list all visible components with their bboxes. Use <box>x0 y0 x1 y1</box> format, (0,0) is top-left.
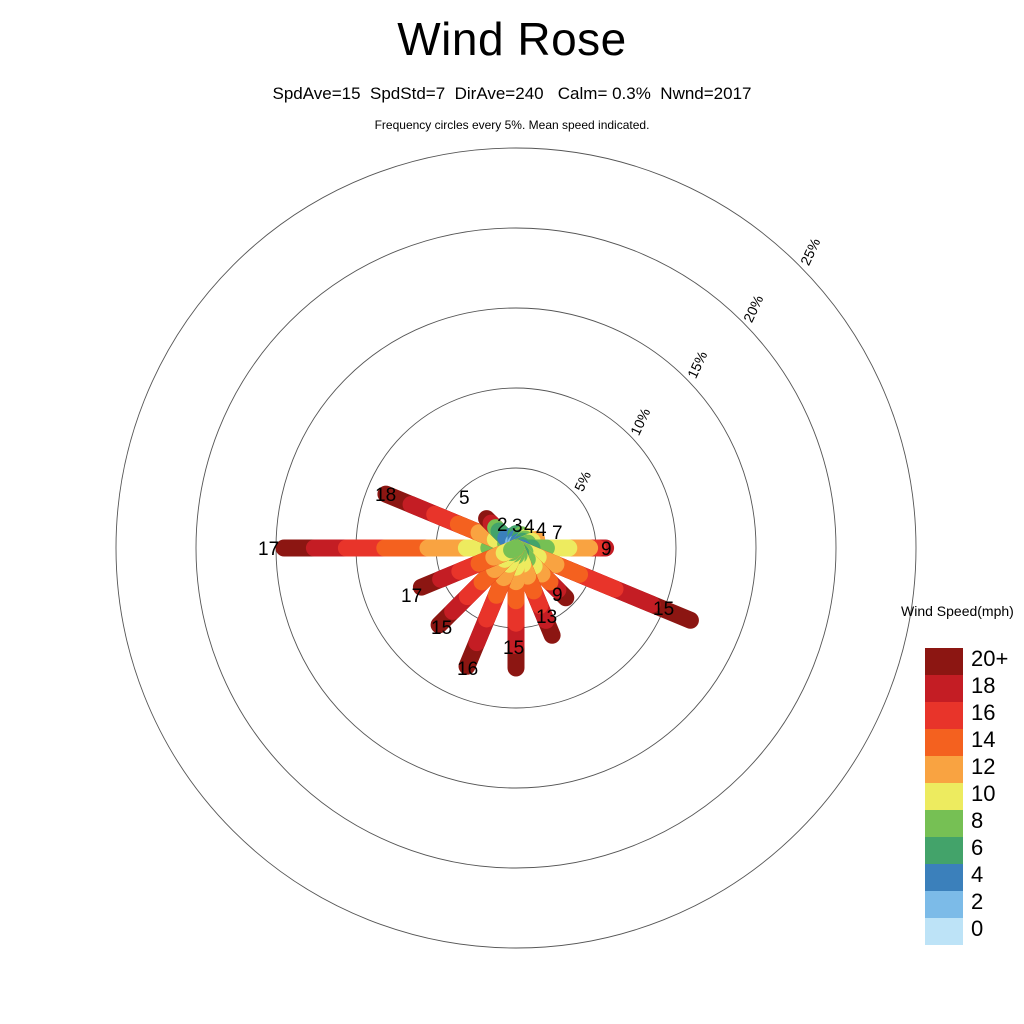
petal-mean-speed-SSE: 13 <box>536 607 557 629</box>
legend-row: 6 <box>925 837 963 864</box>
petal-mean-speed-WSW: 17 <box>401 586 422 608</box>
legend-label: 4 <box>971 862 983 888</box>
legend-label: 0 <box>971 916 983 942</box>
petal-mean-speed-SE: 9 <box>552 585 563 607</box>
wind-rose-page: Wind Rose SpdAve=15 SpdStd=7 DirAve=240 … <box>0 0 1024 1024</box>
petal-segment <box>512 548 516 550</box>
legend-color-chip <box>925 675 963 702</box>
legend-row: 18 <box>925 675 963 702</box>
legend-color-chip <box>925 756 963 783</box>
legend-color-chip <box>925 783 963 810</box>
legend-label: 12 <box>971 754 995 780</box>
legend-label: 18 <box>971 673 995 699</box>
petal-mean-speed-NE: 4 <box>536 520 547 542</box>
legend-row: 4 <box>925 864 963 891</box>
petal-mean-speed-SW: 15 <box>431 618 452 640</box>
legend-color-chip <box>925 918 963 945</box>
legend-label: 8 <box>971 808 983 834</box>
legend-label: 14 <box>971 727 995 753</box>
petal-mean-speed-NW: 5 <box>459 488 470 510</box>
petal-mean-speed-ENE: 7 <box>552 523 563 545</box>
legend-row: 10 <box>925 783 963 810</box>
petal-mean-speed-SSW: 16 <box>457 659 478 681</box>
legend-label: 6 <box>971 835 983 861</box>
legend-label: 20+ <box>971 646 1008 672</box>
petal-mean-speed-NNE: 4 <box>524 517 535 539</box>
petal-mean-speed-W: 17 <box>258 539 279 561</box>
legend-label: 16 <box>971 700 995 726</box>
petal-mean-speed-S: 15 <box>503 638 524 660</box>
legend-color-chip <box>925 810 963 837</box>
legend-color-scale: 20+181614121086420 <box>925 648 963 945</box>
legend-color-chip <box>925 891 963 918</box>
legend-color-chip <box>925 837 963 864</box>
legend-row: 8 <box>925 810 963 837</box>
petal-mean-speed-WNW: 18 <box>375 485 396 507</box>
petals-layer <box>284 494 690 668</box>
petal-mean-speed-ESE: 15 <box>653 599 674 621</box>
legend-row: 20+ <box>925 648 963 675</box>
legend-color-chip <box>925 864 963 891</box>
legend-row: 12 <box>925 756 963 783</box>
legend-row: 16 <box>925 702 963 729</box>
legend-label: 2 <box>971 889 983 915</box>
legend-row: 14 <box>925 729 963 756</box>
petal-mean-speed-NNW: 2 <box>497 515 508 537</box>
legend-title: Wind Speed(mph) <box>901 603 1014 619</box>
legend-color-chip <box>925 648 963 675</box>
legend-label: 10 <box>971 781 995 807</box>
petal-mean-speed-N: 3 <box>512 516 523 538</box>
legend-row: 2 <box>925 891 963 918</box>
wind-rose-plot <box>0 0 1024 1024</box>
legend-row: 0 <box>925 918 963 945</box>
legend-color-chip <box>925 702 963 729</box>
petal-mean-speed-E: 9 <box>601 539 612 561</box>
legend-color-chip <box>925 729 963 756</box>
